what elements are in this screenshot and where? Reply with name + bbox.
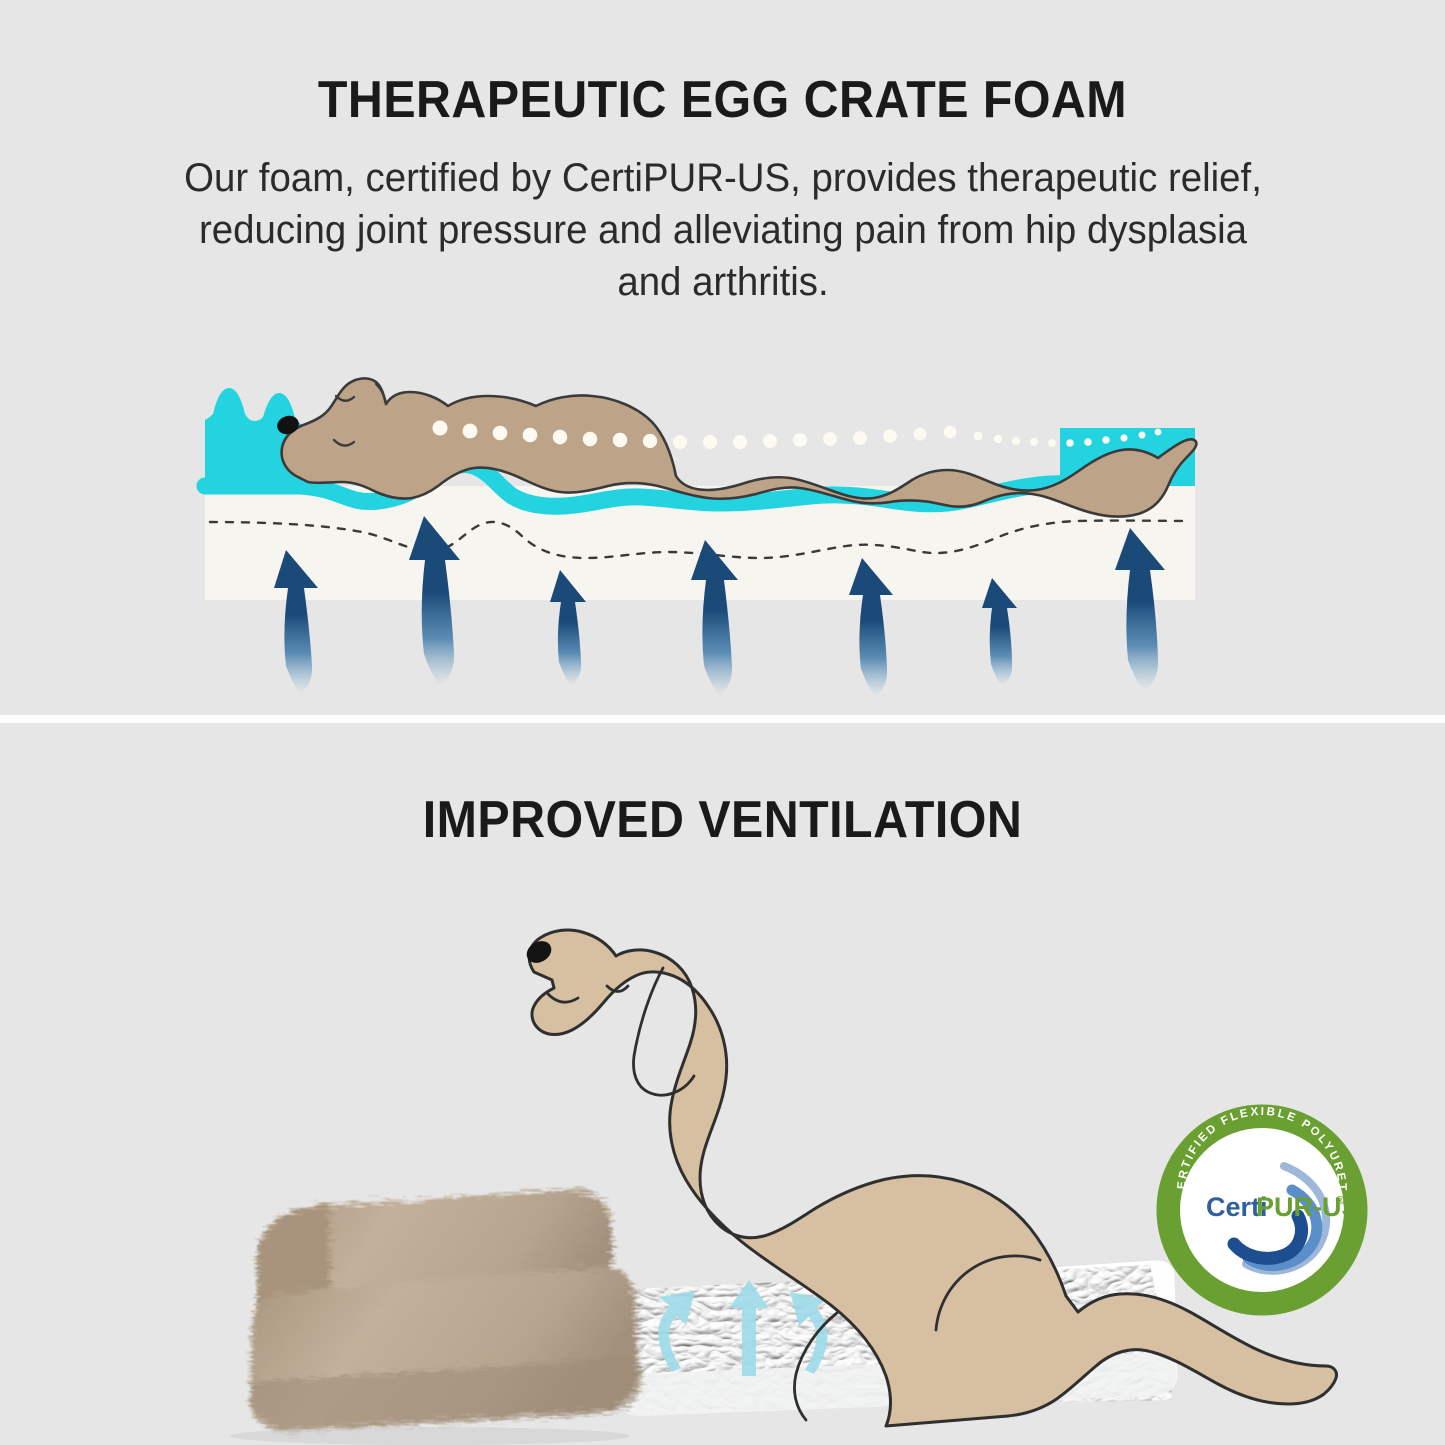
section-therapeutic-foam: THERAPEUTIC EGG CRATE FOAM Our foam, cer… <box>0 0 1445 715</box>
svg-text:®: ® <box>1336 1195 1344 1207</box>
top-illustration <box>0 300 1445 700</box>
infographic-page: THERAPEUTIC EGG CRATE FOAM Our foam, cer… <box>0 0 1445 1445</box>
section-top-title: THERAPEUTIC EGG CRATE FOAM <box>51 70 1395 130</box>
dog-on-bed-svg: CONTAINS CERTIFIED FLEXIBLE POLYURETHANE… <box>0 860 1445 1445</box>
dog-lying-figure <box>275 378 1197 516</box>
section-top-subtitle: Our foam, certified by CertiPUR-US, prov… <box>58 152 1388 308</box>
dog-on-foam-svg <box>0 300 1445 700</box>
badge-center-text: Certi PUR-US ® <box>1206 1192 1360 1222</box>
plush-dog-bed <box>230 1190 642 1445</box>
bottom-illustration: CONTAINS CERTIFIED FLEXIBLE POLYURETHANE… <box>0 860 1445 1445</box>
subtitle-line-1: Our foam, certified by CertiPUR-US, prov… <box>84 152 1361 204</box>
subtitle-line-2: reducing joint pressure and alleviating … <box>84 204 1361 256</box>
section-bottom-title: IMPROVED VENTILATION <box>51 790 1395 850</box>
section-divider <box>0 715 1445 723</box>
certipur-us-badge: CONTAINS CERTIFIED FLEXIBLE POLYURETHANE… <box>1165 1105 1360 1307</box>
